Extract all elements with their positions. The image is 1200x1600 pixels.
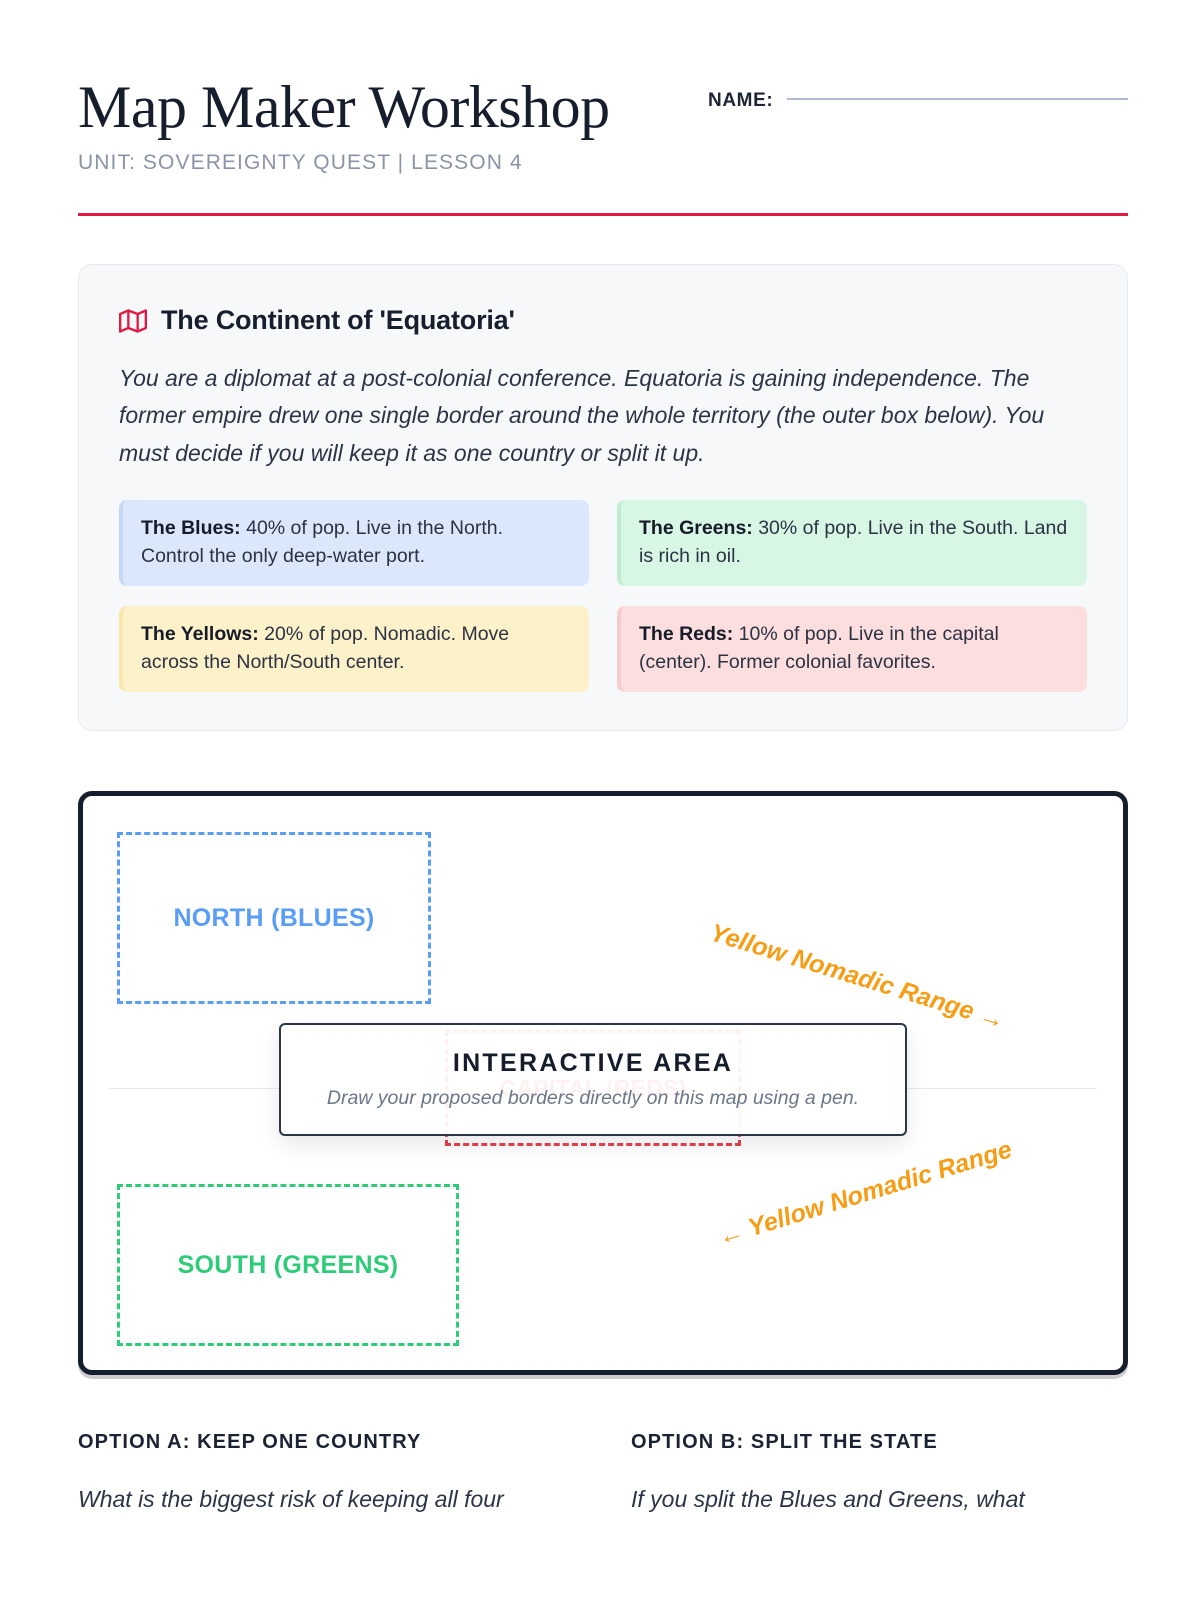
map-zone-north-label: NORTH (BLUES) <box>173 904 374 933</box>
interactive-area-overlay[interactable]: INTERACTIVE AREA Draw your proposed bord… <box>279 1023 907 1136</box>
scenario-card: The Continent of 'Equatoria' You are a d… <box>78 264 1128 731</box>
faction-name: The Greens: <box>639 517 753 539</box>
map-zone-north[interactable]: NORTH (BLUES) <box>117 832 431 1004</box>
nomad-range-annotation-top: Yellow Nomadic Range → <box>707 919 1008 1036</box>
map-canvas[interactable]: NORTH (BLUES) CAPITAL (REDS) SOUTH (GREE… <box>78 791 1128 1375</box>
faction-name: The Reds: <box>639 623 733 645</box>
option-a-title: OPTION A: KEEP ONE COUNTRY <box>78 1431 575 1454</box>
faction-grid: The Blues: 40% of pop. Live in the North… <box>119 500 1087 692</box>
scenario-title: The Continent of 'Equatoria' <box>161 305 515 336</box>
name-field[interactable]: NAME: <box>708 72 1128 112</box>
options-section: OPTION A: KEEP ONE COUNTRY What is the b… <box>78 1431 1128 1517</box>
worksheet-page: Map Maker Workshop UNIT: SOVEREIGNTY QUE… <box>0 0 1200 1600</box>
faction-name: The Yellows: <box>141 623 259 645</box>
option-b-title: OPTION B: SPLIT THE STATE <box>631 1431 1128 1454</box>
scenario-header: The Continent of 'Equatoria' <box>119 305 1087 336</box>
option-b-column: OPTION B: SPLIT THE STATE If you split t… <box>631 1431 1128 1517</box>
nomad-range-annotation-bottom: ← Yellow Nomadic Range <box>715 1135 1016 1252</box>
faction-card-reds: The Reds: 10% of pop. Live in the capita… <box>617 606 1087 692</box>
map-zone-south-label: SOUTH (GREENS) <box>178 1251 399 1280</box>
title-block: Map Maker Workshop UNIT: SOVEREIGNTY QUE… <box>78 72 610 175</box>
faction-card-blues: The Blues: 40% of pop. Live in the North… <box>119 500 589 586</box>
map-zone-south[interactable]: SOUTH (GREENS) <box>117 1184 459 1346</box>
faction-name: The Blues: <box>141 517 241 539</box>
worksheet-header: Map Maker Workshop UNIT: SOVEREIGNTY QUE… <box>78 72 1128 175</box>
faction-card-yellows: The Yellows: 20% of pop. Nomadic. Move a… <box>119 606 589 692</box>
header-divider <box>78 213 1128 216</box>
map-icon <box>119 307 147 335</box>
map-section: NORTH (BLUES) CAPITAL (REDS) SOUTH (GREE… <box>78 791 1128 1375</box>
option-a-column: OPTION A: KEEP ONE COUNTRY What is the b… <box>78 1431 575 1517</box>
interactive-area-title: INTERACTIVE AREA <box>453 1049 733 1078</box>
name-field-label: NAME: <box>708 90 773 112</box>
interactive-area-instruction: Draw your proposed borders directly on t… <box>327 1087 859 1110</box>
scenario-body-text: You are a diplomat at a post-colonial co… <box>119 360 1079 472</box>
faction-card-greens: The Greens: 30% of pop. Live in the Sout… <box>617 500 1087 586</box>
option-b-prompt: If you split the Blues and Greens, what <box>631 1482 1128 1517</box>
page-title: Map Maker Workshop <box>78 76 610 139</box>
name-input-line[interactable] <box>787 98 1128 100</box>
option-a-prompt: What is the biggest risk of keeping all … <box>78 1482 575 1517</box>
page-subtitle: UNIT: SOVEREIGNTY QUEST | LESSON 4 <box>78 151 610 175</box>
